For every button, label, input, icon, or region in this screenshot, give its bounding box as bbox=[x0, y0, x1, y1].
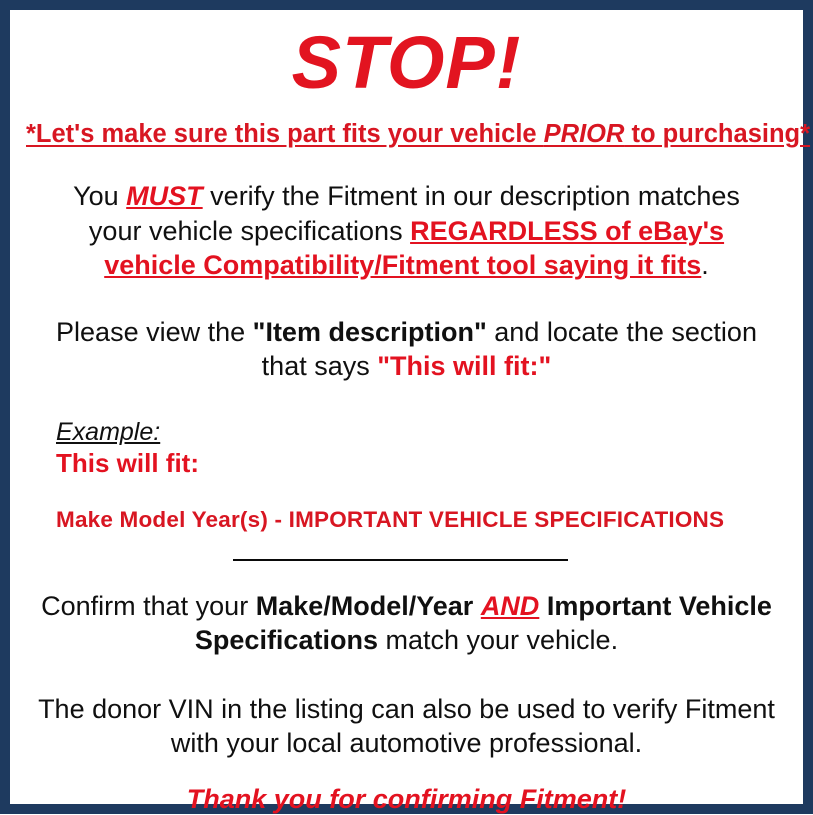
this-will-fit-emphasis: "This will fit:" bbox=[377, 351, 551, 381]
paragraph-donor-vin: The donor VIN in the listing can also be… bbox=[26, 692, 787, 761]
confirm-space-2 bbox=[539, 591, 547, 621]
fitment-notice-card: STOP! *Let's make sure this part fits yo… bbox=[0, 0, 813, 814]
page-title: STOP! bbox=[26, 24, 787, 102]
example-block: Example: This will fit: Make Model Year(… bbox=[26, 418, 787, 533]
thank-you-line: Thank you for confirming Fitment! bbox=[26, 783, 787, 815]
subtitle-banner: *Let's make sure this part fits your veh… bbox=[26, 120, 787, 149]
divider-container bbox=[26, 555, 787, 569]
example-label: Example: bbox=[56, 418, 787, 447]
item-description-emphasis: "Item description" bbox=[253, 317, 487, 347]
confirm-space-1 bbox=[473, 591, 481, 621]
notice-content: STOP! *Let's make sure this part fits yo… bbox=[10, 10, 803, 804]
must-emphasis: MUST bbox=[126, 181, 203, 211]
itemdesc-text-part1: Please view the bbox=[56, 317, 253, 347]
must-text-part1: You bbox=[73, 181, 126, 211]
paragraph-confirm-match: Confirm that your Make/Model/Year AND Im… bbox=[26, 589, 787, 658]
must-text-part3: . bbox=[701, 250, 709, 280]
confirm-text-part1: Confirm that your bbox=[41, 591, 256, 621]
confirm-text-part2: match your vehicle. bbox=[378, 625, 618, 655]
and-emphasis: AND bbox=[481, 591, 540, 621]
subtitle-prefix: *Let's make sure this part fits your veh… bbox=[26, 120, 544, 148]
subtitle-suffix: to purchasing* bbox=[624, 120, 810, 148]
make-model-year-emphasis: Make/Model/Year bbox=[256, 591, 474, 621]
example-fit-line: This will fit: bbox=[56, 448, 787, 479]
paragraph-item-description: Please view the "Item description" and l… bbox=[26, 315, 787, 384]
example-spec-line: Make Model Year(s) - IMPORTANT VEHICLE S… bbox=[56, 506, 787, 533]
paragraph-must-verify: You MUST verify the Fitment in our descr… bbox=[26, 179, 787, 283]
subtitle-emphasis-prior: PRIOR bbox=[544, 120, 625, 148]
horizontal-rule-icon bbox=[233, 559, 568, 561]
